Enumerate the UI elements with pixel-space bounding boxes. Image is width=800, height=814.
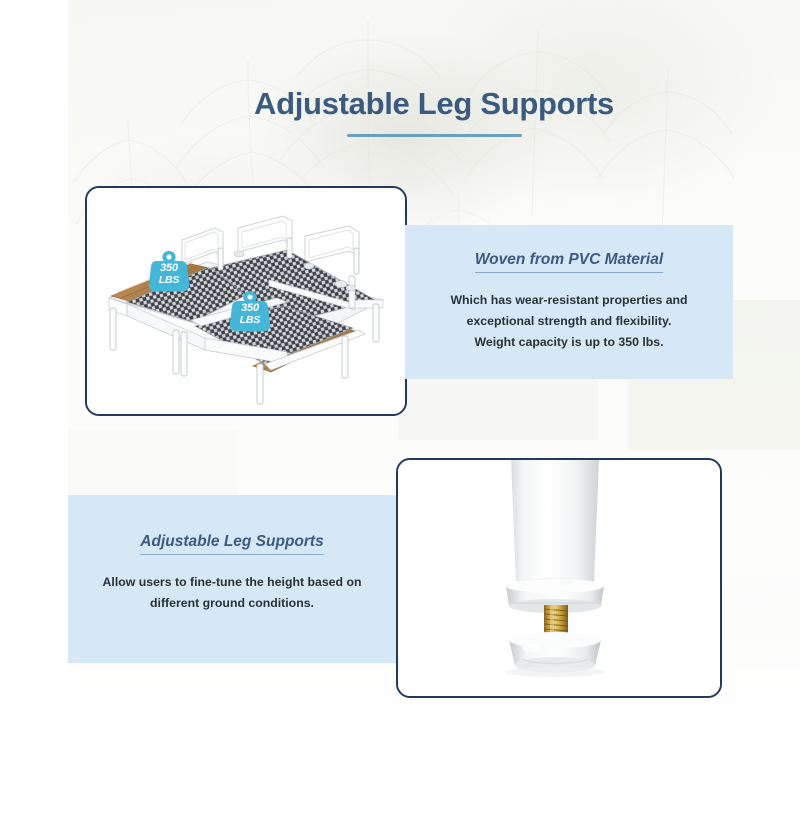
leg-image-panel [396,458,722,698]
feature-body-line: Allow users to fine-tune the height base… [103,575,362,589]
weight-icon [148,250,190,294]
infographic-root: Adjustable Leg Supports [0,0,800,814]
page-title: Adjustable Leg Supports [68,86,800,122]
feature-body-legs: Allow users to fine-tune the height base… [82,572,382,614]
feature-heading-pvc: Woven from PVC Material [475,251,663,273]
feature-body-pvc: Which has wear-resistant properties and … [419,290,719,353]
feature-body-line: different ground conditions. [150,596,314,610]
title-underline-rule [347,134,522,137]
weight-badge: 350 LBS [229,290,271,334]
feature-block-legs: Adjustable Leg Supports Allow users to f… [68,495,396,663]
feature-block-pvc: Woven from PVC Material Which has wear-r… [405,225,733,379]
feature-heading-legs: Adjustable Leg Supports [140,533,323,555]
adjustable-leg-illustration [398,460,720,696]
weight-badge: 350 LBS [148,250,190,294]
feature-body-line: Weight capacity is up to 350 lbs. [474,335,663,349]
page-title-block: Adjustable Leg Supports [68,86,800,137]
feature-body-line: exceptional strength and flexibility. [467,314,672,328]
weight-icon [229,290,271,334]
feature-body-line: Which has wear-resistant properties and [450,293,687,307]
